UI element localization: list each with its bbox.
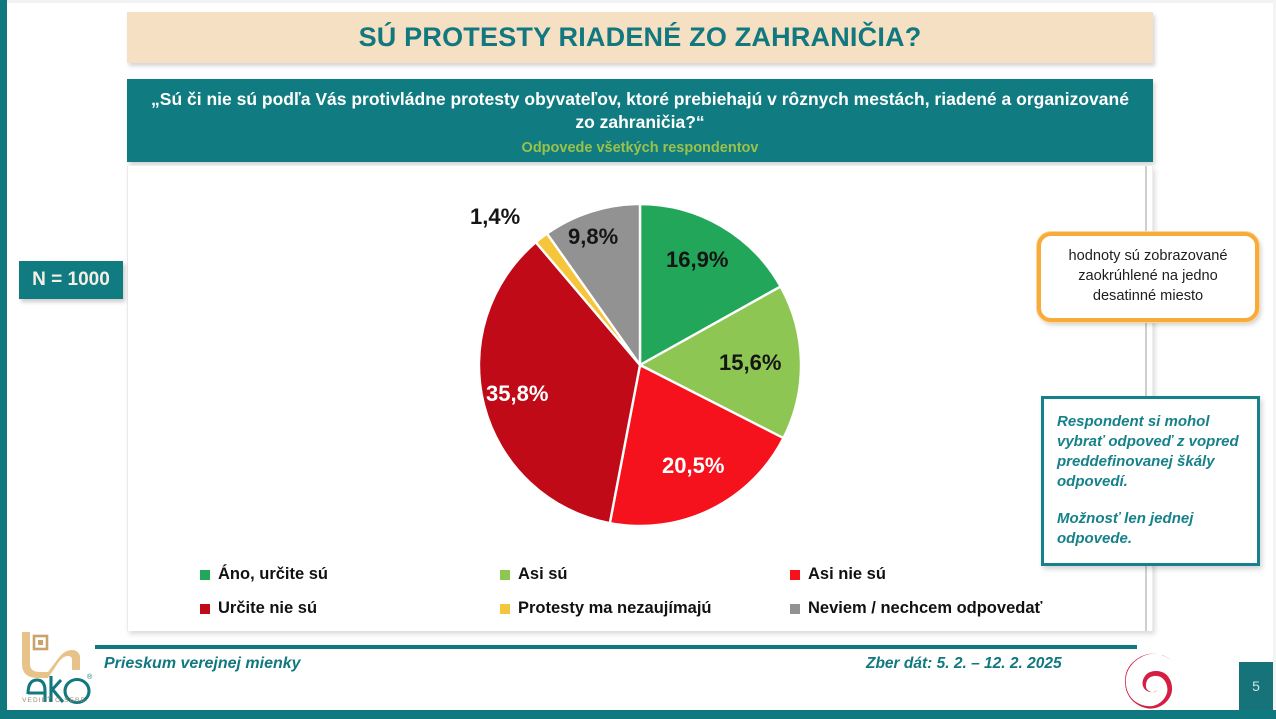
legend-item-asi-su[interactable]: Asi sú [500, 565, 568, 584]
slide: SÚ PROTESTY RIADENÉ ZO ZAHRANIČIA? „Sú č… [0, 0, 1276, 719]
legend-label: Asi sú [518, 565, 568, 584]
legend-label: Asi nie sú [808, 565, 886, 584]
legend-swatch-icon [200, 604, 210, 614]
question-subtitle: Odpovede všetkých respondentov [522, 140, 759, 156]
slide-bottom-accent-bar [0, 710, 1276, 719]
footer-divider [95, 645, 1137, 649]
page-number: 5 [1252, 678, 1260, 694]
pie-label-urcite-nie-su: 35,8% [486, 381, 548, 407]
legend-swatch-icon [790, 604, 800, 614]
legend-label: Protesty ma nezaujímajú [518, 599, 711, 618]
slide-title-banner: SÚ PROTESTY RIADENÉ ZO ZAHRANIČIA? [127, 12, 1153, 63]
legend-label: Áno, určite sú [218, 565, 328, 584]
legend-item-ano-urcite-su[interactable]: Áno, určite sú [200, 565, 328, 584]
legend-swatch-icon [200, 570, 210, 580]
legend-item-asi-nie-su[interactable]: Asi nie sú [790, 565, 886, 584]
slide-left-accent-bar [0, 0, 7, 719]
question-text: „Sú či nie sú podľa Vás protivládne prot… [149, 88, 1131, 135]
legend-swatch-icon [790, 570, 800, 580]
legend-label: Určite nie sú [218, 599, 317, 618]
pie-label-ano-urcite-su: 16,9% [666, 247, 728, 273]
status-badge: N = 1000 [19, 261, 123, 299]
footer-survey-label: Prieskum verejnej mienky [104, 655, 301, 673]
legend-swatch-icon [500, 604, 510, 614]
sample-size-label: N = 1000 [32, 269, 110, 291]
svg-text:®: ® [87, 673, 93, 681]
pie-label-neviem-nechcem-odpovedat: 9,8% [568, 224, 618, 250]
legend-item-urcite-nie-su[interactable]: Určite nie sú [200, 599, 317, 618]
slide-top-edge [0, 0, 1276, 3]
legend-swatch-icon [500, 570, 510, 580]
pie-label-asi-su: 15,6% [719, 350, 781, 376]
chart-legend: Áno, určite sú Asi sú Asi nie sú Určite … [127, 560, 1153, 626]
legend-item-protesty-ma-nezaujimaju[interactable]: Protesty ma nezaujímajú [500, 599, 711, 618]
rounding-note-text: hodnoty sú zobrazované zaokrúhlené na je… [1049, 247, 1247, 306]
ako-logo-tagline: VEDIEŤ O SEBE [14, 697, 94, 704]
respondent-note-callout: Respondent si mohol vybrať odpoveď z vop… [1041, 396, 1260, 566]
spiral-logo-icon [1122, 650, 1184, 712]
footer-date-label: Zber dát: 5. 2. – 12. 2. 2025 [866, 655, 1062, 673]
legend-label: Neviem / nechcem odpovedať [808, 599, 1042, 618]
respondent-note-paragraph-2: Možnosť len jednej odpovede. [1057, 509, 1246, 549]
respondent-note-paragraph-1: Respondent si mohol vybrať odpoveď z vop… [1057, 412, 1246, 492]
rounding-note-callout: hodnoty sú zobrazované zaokrúhlené na je… [1037, 232, 1259, 322]
pie-label-protesty-ma-nezaujimaju: 1,4% [470, 204, 520, 230]
question-banner: „Sú či nie sú podľa Vás protivládne prot… [127, 79, 1153, 162]
page-number-badge: 5 [1239, 662, 1273, 710]
page-title: SÚ PROTESTY RIADENÉ ZO ZAHRANIČIA? [359, 22, 922, 53]
legend-item-neviem-nechcem-odpovedat[interactable]: Neviem / nechcem odpovedať [790, 599, 1042, 618]
pie-label-asi-nie-su: 20,5% [662, 453, 724, 479]
